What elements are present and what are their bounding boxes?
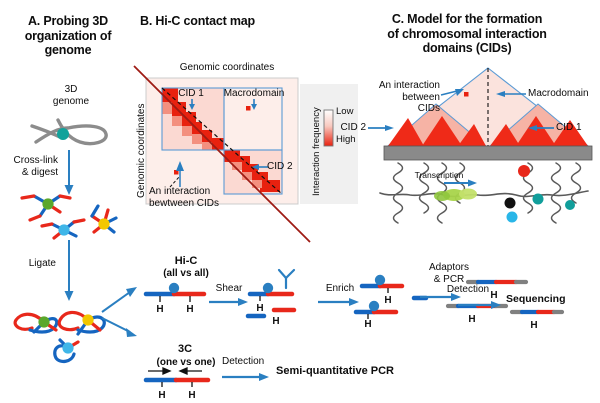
model-annot-macrodomain: Macrodomain (528, 88, 600, 100)
svg-text:H: H (186, 304, 193, 315)
step-crosslink-line2: & digest (0, 167, 58, 179)
svg-text:H: H (272, 316, 279, 327)
step-crosslink-label: Cross-link & digest (0, 155, 58, 178)
transcription-label: Transcription (406, 170, 472, 182)
model-annot-interaction-line3: CIDs (356, 103, 440, 115)
svg-text:H: H (530, 320, 537, 331)
hic-result-text: Sequencing (506, 294, 600, 306)
model-annot-interaction-line2: between (356, 92, 440, 104)
model-annot-cid2: CID 2 (326, 122, 366, 134)
model-annot-cid1: CID 1 (556, 122, 596, 134)
hic-label: Hi-C (148, 256, 224, 268)
threec-fragment: H H (140, 366, 220, 400)
panel-c-title-line2: of chromosomal interaction (338, 27, 596, 42)
arrow-enrich (318, 297, 360, 307)
threec-result-label: Semi-quantitative PCR (276, 366, 466, 378)
arrow-hic-detection (458, 300, 502, 310)
svg-text:H: H (468, 314, 475, 325)
genome-label: 3D genome (36, 84, 106, 107)
hic-fragment-sheared: H H (246, 274, 320, 326)
model-annot-interaction-line1: An interaction (356, 80, 440, 92)
svg-text:H: H (364, 319, 371, 330)
panel-a-title-line1: A. Probing 3D (4, 14, 132, 29)
model-arrow-cid1 (528, 124, 554, 132)
crosslinked-fragments (16, 186, 128, 246)
colorbar-title: Interaction frequency (311, 107, 322, 196)
threec-label-text: 3C (148, 344, 222, 356)
svg-text:H: H (158, 390, 165, 401)
hic-result-label: Sequencing (506, 294, 600, 306)
panel-a-title-line2: organization of (4, 29, 132, 44)
panel-c-title-line1: C. Model for the formation (338, 12, 596, 27)
panel-b-title: B. Hi-C contact map (140, 14, 320, 29)
branch-arrows (100, 278, 142, 344)
model-annot-interaction: An interaction between CIDs (356, 80, 440, 115)
figure-root: A. Probing 3D organization of genome 3D … (0, 0, 600, 403)
hic-sublabel: (all vs all) (146, 268, 226, 280)
contactmap-arrow-interaction (168, 160, 184, 188)
hic-detection-label: Detection (438, 284, 498, 296)
contactmap-annot-cid1-text: CID 1 (170, 88, 212, 100)
contactmap-arrow-cid2 (252, 163, 268, 171)
contactmap-annot-interaction-line1: An interaction (149, 186, 261, 198)
threec-result-text: Semi-quantitative PCR (276, 366, 466, 378)
model-annot-macrodomain-text: Macrodomain (528, 88, 600, 100)
threec-label: 3C (148, 344, 222, 356)
model-annot-cid2-text: CID 2 (326, 122, 366, 134)
colorbar-label-high-text: High (336, 134, 364, 146)
hic-detection-text: Detection (438, 284, 498, 296)
colorbar-title-text: Interaction frequency (311, 107, 322, 196)
model-arrow-macrodomain (496, 90, 526, 98)
colorbar-label-high: High (336, 134, 364, 146)
supercoiled-dna (370, 163, 596, 239)
model-annot-cid1-text: CID 1 (556, 122, 596, 134)
contactmap-x-axis-label: Genomic coordinates (152, 62, 302, 74)
svg-text:H: H (156, 304, 163, 315)
arrow-threec-detection (222, 372, 270, 382)
panel-c-title-line3: domains (CIDs) (338, 41, 596, 56)
genome-label-line2: genome (36, 96, 106, 108)
panel-c-title: C. Model for the formation of chromosoma… (338, 12, 596, 56)
panel-b-title-text: B. Hi-C contact map (140, 14, 320, 29)
arrow-ligate (62, 240, 76, 302)
svg-text:H: H (384, 295, 391, 306)
model-arrow-interaction (441, 88, 465, 98)
step-shear-label: Shear (208, 283, 250, 295)
transcription-label-text: Transcription (406, 170, 472, 182)
contactmap-annot-interaction: An interaction bewtween CIDs (149, 186, 261, 209)
panel-a-title: A. Probing 3D organization of genome (4, 14, 132, 58)
step-crosslink-line1: Cross-link (0, 155, 58, 167)
contactmap-annot-macrodomain: Macrodomain (216, 88, 292, 100)
svg-text:H: H (188, 390, 195, 401)
hic-fragment-initial: H H (142, 286, 210, 314)
threec-detection-text: Detection (222, 356, 284, 368)
contactmap-arrow-cid1 (188, 99, 196, 111)
threec-detection-label: Detection (222, 356, 284, 368)
contactmap-annot-interaction-line2: bewtween CIDs (149, 198, 261, 210)
arrow-shear (209, 297, 249, 307)
contactmap-annot-macrodomain-text: Macrodomain (216, 88, 292, 100)
step-ligate-label: Ligate (2, 258, 56, 270)
model-arrow-cid2 (368, 124, 394, 132)
step-ligate-text: Ligate (2, 258, 56, 270)
genome-label-line1: 3D (36, 84, 106, 96)
contactmap-annot-cid1: CID 1 (170, 88, 212, 100)
contactmap-arrow-macrodomain (250, 99, 258, 111)
svg-text:H: H (256, 303, 263, 314)
hic-sublabel-text: (all vs all) (146, 268, 226, 280)
genome-3d-icon (28, 112, 116, 150)
hic-label-text: Hi-C (148, 256, 224, 268)
panel-a-title-line3: genome (4, 43, 132, 58)
step-shear-text: Shear (208, 283, 250, 295)
contactmap-x-axis-text: Genomic coordinates (152, 62, 302, 74)
